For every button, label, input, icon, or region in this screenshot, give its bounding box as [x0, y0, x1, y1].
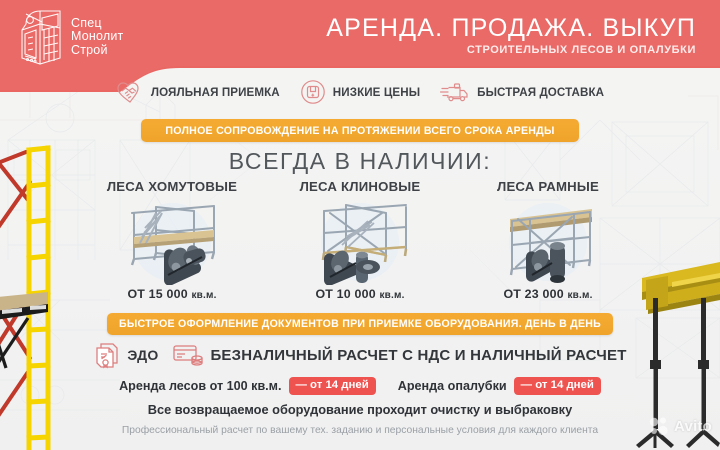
building-crane-logo-icon: [16, 8, 64, 66]
product-wedge-scaffold[interactable]: ЛЕСА КЛИНОВЫЕ: [266, 179, 454, 301]
frame-scaffold-icon: [482, 197, 614, 285]
avito-logo-icon: [649, 416, 671, 436]
product-image-wrap: [454, 197, 642, 285]
product-price: ОТ 10 000 кв.м.: [266, 287, 454, 301]
edo-document-icon: [93, 341, 121, 369]
page-title: АРЕНДА. ПРОДАЖА. ВЫКУП: [326, 14, 696, 42]
product-frame-scaffold[interactable]: ЛЕСА РАМНЫЕ: [454, 179, 642, 301]
payment-methods-label: БЕЗНАЛИЧНЫЙ РАСЧЕТ С НДС И НАЛИЧНЫЙ РАСЧ…: [210, 347, 626, 364]
product-price: ОТ 15 000 кв.м.: [78, 287, 266, 301]
support-ribbon: ПОЛНОЕ СОПРОВОЖДЕНИЕ НА ПРОТЯЖЕНИИ ВСЕГО…: [141, 119, 579, 142]
benefit-item-loyal-acceptance: ЛОЯЛЬНАЯ ПРИЕМКА: [116, 80, 280, 104]
tagline: Все возвращаемое оборудование проходит о…: [0, 402, 720, 417]
brand-line-3: Строй: [71, 44, 124, 58]
benefit-label: НИЗКИЕ ЦЕНЫ: [333, 86, 420, 99]
benefits-row: ЛОЯЛЬНАЯ ПРИЕМКА НИЗКИЕ ЦЕНЫ: [0, 79, 720, 105]
product-price: ОТ 23 000 кв.м.: [454, 287, 642, 301]
term-text: Аренда лесов от 100 кв.м.: [119, 379, 281, 393]
documents-ribbon: БЫСТРОЕ ОФОРМЛЕНИЕ ДОКУМЕНТОВ ПРИ ПРИЕМК…: [107, 313, 613, 335]
avito-watermark: Avito: [649, 416, 712, 436]
product-title: ЛЕСА РАМНЫЕ: [454, 179, 642, 194]
advertisement-banner: Спец Монолит Строй АРЕНДА. ПРОДАЖА. ВЫКУ…: [0, 0, 720, 450]
product-title: ЛЕСА ХОМУТОВЫЕ: [78, 179, 266, 194]
headline-group: АРЕНДА. ПРОДАЖА. ВЫКУП СТРОИТЕЛЬНЫХ ЛЕСО…: [326, 14, 696, 56]
brand-line-1: Спец: [71, 17, 124, 31]
stock-heading: ВСЕГДА В НАЛИЧИИ:: [0, 148, 720, 175]
edo-label: ЭДО: [127, 347, 158, 363]
wedge-scaffold-icon: [294, 197, 426, 285]
product-title: ЛЕСА КЛИНОВЫЕ: [266, 179, 454, 194]
avito-watermark-text: Avito: [674, 418, 712, 435]
benefit-label: БЫСТРАЯ ДОСТАВКА: [477, 86, 604, 99]
page-subtitle: СТРОИТЕЛЬНЫХ ЛЕСОВ И ОПАЛУБКИ: [326, 44, 696, 56]
card-coins-icon: [172, 342, 204, 368]
payment-methods: БЕЗНАЛИЧНЫЙ РАСЧЕТ С НДС И НАЛИЧНЫЙ РАСЧ…: [172, 342, 626, 368]
brand-line-2: Монолит: [71, 30, 124, 44]
price-value: ОТ 10 000: [315, 287, 375, 301]
delivery-truck-icon: [440, 80, 470, 104]
term-badge: — от 14 дней: [514, 377, 601, 395]
price-unit: кв.м.: [191, 290, 216, 301]
products-row: ЛЕСА ХОМУТОВЫЕ: [78, 179, 642, 301]
price-unit: кв.м.: [567, 290, 592, 301]
brand-logo[interactable]: Спец Монолит Строй: [16, 8, 124, 66]
handshake-heart-icon: [116, 80, 144, 104]
benefit-item-fast-delivery: БЫСТРАЯ ДОСТАВКА: [440, 80, 604, 104]
price-unit: кв.м.: [379, 290, 404, 301]
clamp-scaffold-icon: [106, 197, 238, 285]
product-clamp-scaffold[interactable]: ЛЕСА ХОМУТОВЫЕ: [78, 179, 266, 301]
terms-row: Аренда лесов от 100 кв.м. — от 14 дней А…: [0, 377, 720, 395]
term-formwork-rental: Аренда опалубки — от 14 дней: [398, 377, 601, 395]
term-badge: — от 14 дней: [289, 377, 376, 395]
fineprint: Профессиональный расчет по вашему тех. з…: [0, 425, 720, 436]
payment-row: ЭДО БЕЗНАЛИЧНЫЙ РАСЧЕТ С НДС И НАЛИЧНЫЙ …: [0, 341, 720, 369]
product-image-wrap: [266, 197, 454, 285]
payment-edo: ЭДО: [93, 341, 158, 369]
benefit-label: ЛОЯЛЬНАЯ ПРИЕМКА: [151, 86, 280, 99]
price-value: ОТ 23 000: [503, 287, 563, 301]
price-value: ОТ 15 000: [127, 287, 187, 301]
product-image-wrap: [78, 197, 266, 285]
benefit-item-low-prices: НИЗКИЕ ЦЕНЫ: [300, 79, 420, 105]
term-text: Аренда опалубки: [398, 379, 507, 393]
brand-name: Спец Монолит Строй: [71, 17, 124, 58]
term-scaffold-rental: Аренда лесов от 100 кв.м. — от 14 дней: [119, 377, 376, 395]
low-price-tag-icon: [300, 79, 326, 105]
